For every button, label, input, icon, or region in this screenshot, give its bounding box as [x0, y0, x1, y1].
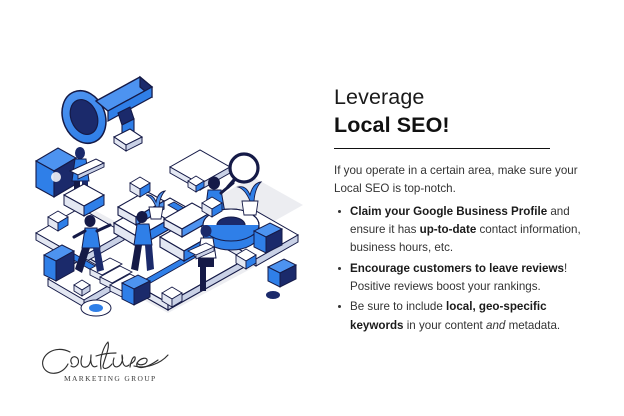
list-item: Be sure to include local, geo-specific k… [334, 298, 602, 335]
list-item: Encourage customers to leave reviews! Po… [334, 260, 602, 297]
page-title-line1: Leverage [334, 84, 602, 112]
intro-paragraph: If you operate in a certain area, make s… [334, 162, 598, 199]
title-divider [334, 148, 550, 149]
text-column: Leverage Local SEO! If you operate in a … [334, 84, 602, 337]
brand-logo [34, 336, 194, 398]
slide-canvas: MARKETING GROUP Leverage Local SEO! If y… [0, 0, 624, 416]
list-item: Claim your Google Business Profile and e… [334, 203, 602, 258]
isometric-seo-illustration [18, 55, 318, 325]
bullet-list: Claim your Google Business Profile and e… [334, 203, 602, 335]
logo-subtitle: MARKETING GROUP [64, 374, 157, 383]
page-title-line2: Local SEO! [334, 112, 602, 140]
